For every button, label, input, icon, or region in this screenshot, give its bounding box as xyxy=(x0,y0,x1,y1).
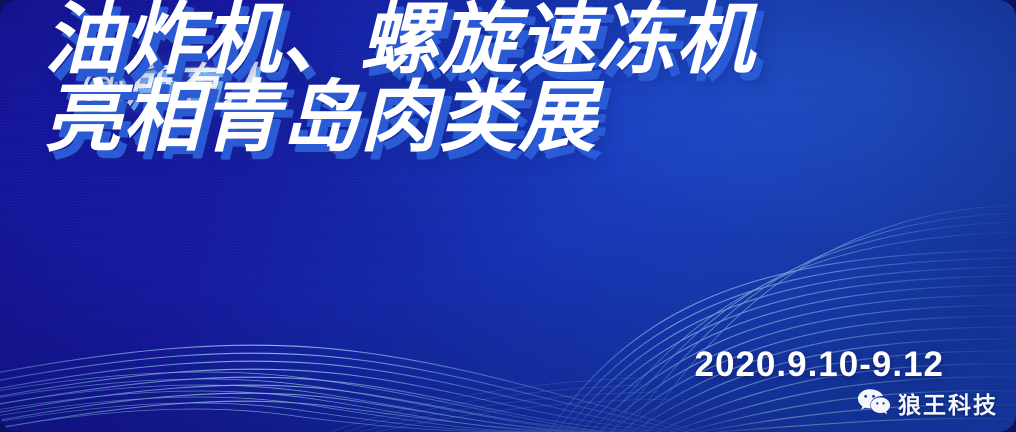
watermark-account-name: 狼王科技 xyxy=(898,386,998,420)
wechat-icon xyxy=(857,388,891,418)
headline-line-2: 亮相青岛肉类展 xyxy=(44,78,755,156)
banner-content: @所有人 油炸机、螺旋速冻机 亮相青岛肉类展 2020.9.10-9.12 狼王… xyxy=(0,0,1016,432)
wechat-watermark: 狼王科技 xyxy=(857,386,998,420)
headline-line-1: 油炸机、螺旋速冻机 xyxy=(44,0,755,78)
event-date: 2020.9.10-9.12 xyxy=(695,345,944,385)
promo-banner: @所有人 油炸机、螺旋速冻机 亮相青岛肉类展 2020.9.10-9.12 狼王… xyxy=(0,0,1016,432)
headline: 油炸机、螺旋速冻机 亮相青岛肉类展 xyxy=(44,0,755,156)
